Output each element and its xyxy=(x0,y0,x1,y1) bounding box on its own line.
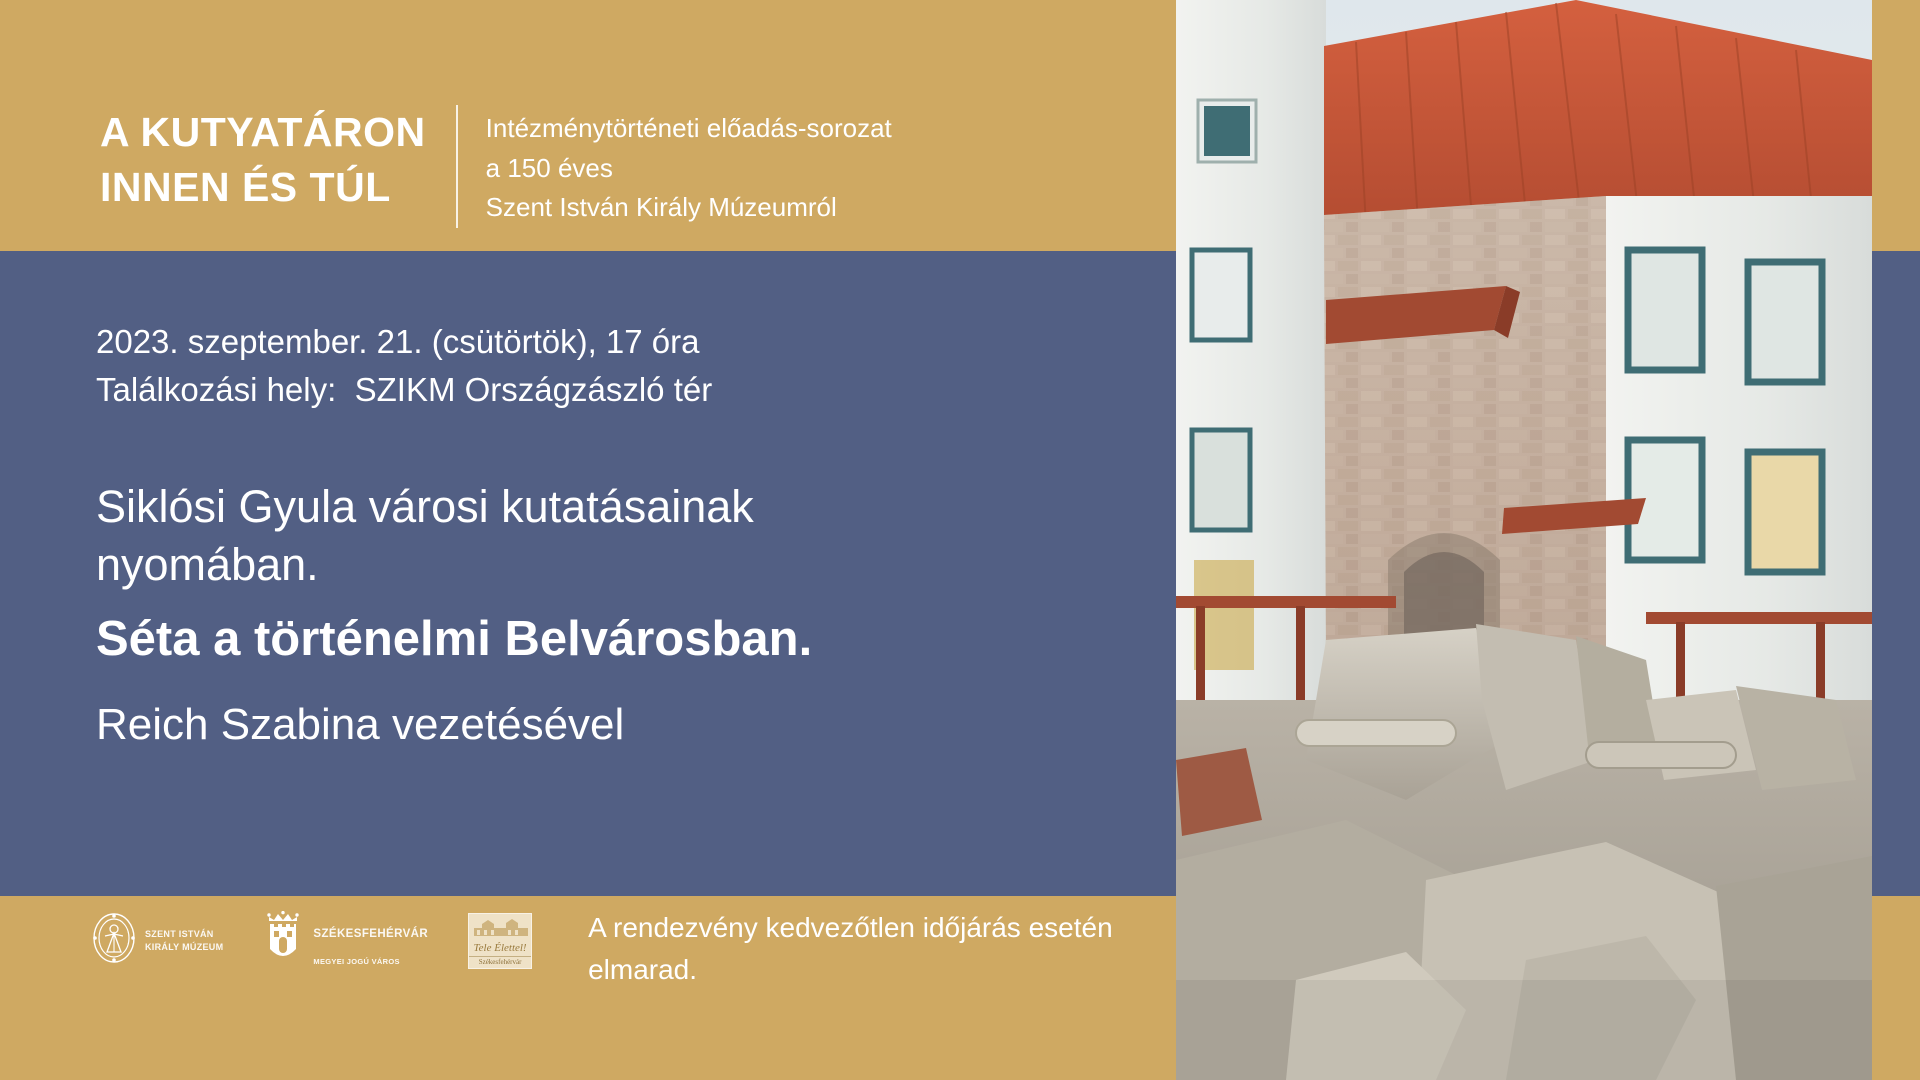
event-poster: A KUTYATÁRON INNEN ÉS TÚL Intézménytörté… xyxy=(0,0,1920,1080)
headline-primary: Siklósi Gyula városi kutatásainak nyomáb… xyxy=(96,478,1126,594)
right-edge-blue-middle xyxy=(1872,251,1920,896)
event-meta: 2023. szeptember. 21. (csütörtök), 17 ór… xyxy=(96,318,712,414)
event-date: 2023. szeptember. 21. (csütörtök), 17 ór… xyxy=(96,318,712,366)
series-subtitle: Intézménytörténeti előadás-sorozat a 150… xyxy=(486,105,892,228)
city-logo-name: SZÉKESFEHÉRVÁR xyxy=(313,928,428,940)
headline-bold: Séta a történelmi Belvárosban. xyxy=(96,608,1126,672)
poster-footer: SZENT ISTVÁN KIRÁLY MÚZEUM xyxy=(92,905,1113,991)
logo-szent-istvan-kiraly-muzeum: SZENT ISTVÁN KIRÁLY MÚZEUM xyxy=(92,912,223,969)
series-title: A KUTYATÁRON INNEN ÉS TÚL xyxy=(100,105,456,214)
sponsor-logos: SZENT ISTVÁN KIRÁLY MÚZEUM xyxy=(92,905,532,970)
city-logo-text: SZÉKESFEHÉRVÁR MEGYEI JOGÚ VÁROS xyxy=(313,913,428,968)
badge-skyline-icon xyxy=(472,916,530,940)
city-coat-of-arms-icon xyxy=(263,911,303,970)
logo-tele-elettel-badge: Tele Élettel! Székesfehérvár xyxy=(468,913,532,969)
venue-photograph xyxy=(1176,0,1872,1080)
museum-logo-label: SZENT ISTVÁN KIRÁLY MÚZEUM xyxy=(145,928,223,954)
museum-emblem-icon xyxy=(92,912,136,969)
event-location: Találkozási hely: SZIKM Országzászló tér xyxy=(96,366,712,414)
badge-slogan: Tele Élettel! xyxy=(474,943,527,954)
city-logo-subtitle: MEGYEI JOGÚ VÁROS xyxy=(313,957,399,966)
poster-header: A KUTYATÁRON INNEN ÉS TÚL Intézménytörté… xyxy=(100,105,892,228)
badge-city: Székesfehérvár xyxy=(469,956,531,966)
headline-presenter: Reich Szabina vezetésével xyxy=(96,696,1126,753)
weather-disclaimer: A rendezvény kedvezőtlen időjárás esetén… xyxy=(588,905,1113,991)
right-edge-gold-top xyxy=(1872,0,1920,251)
right-edge-gold-bottom xyxy=(1872,896,1920,1080)
logo-szekesfehervar-city: SZÉKESFEHÉRVÁR MEGYEI JOGÚ VÁROS xyxy=(263,911,428,970)
header-divider xyxy=(456,105,458,228)
event-headline-block: Siklósi Gyula városi kutatásainak nyomáb… xyxy=(96,478,1126,753)
